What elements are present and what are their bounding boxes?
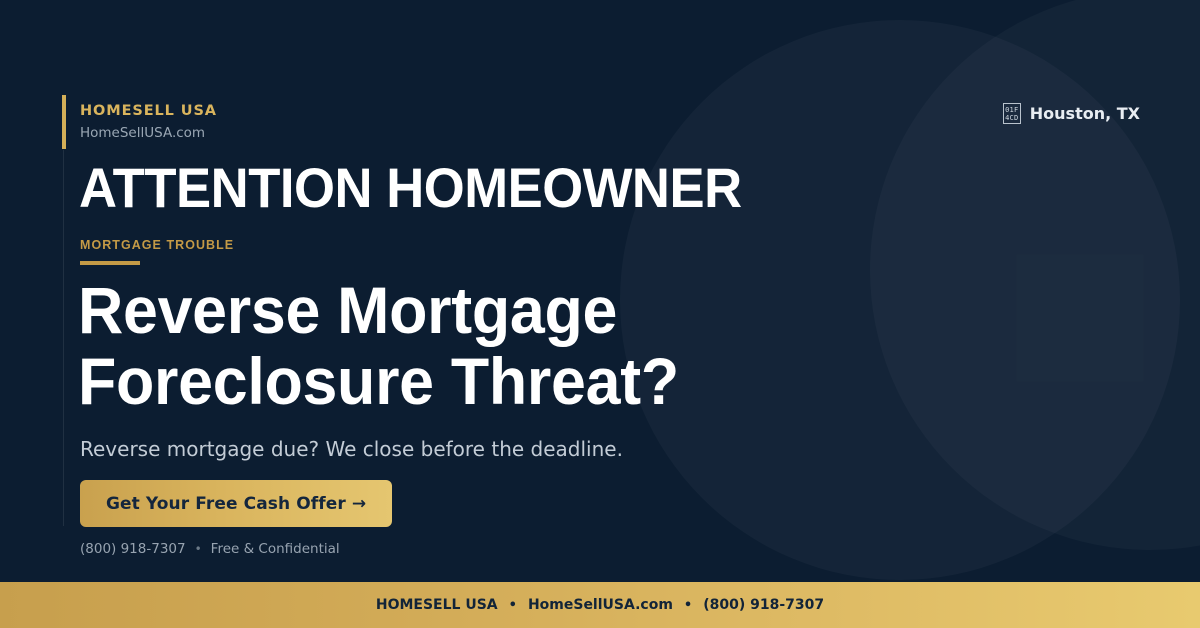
ad-banner: 01F 4CD Houston, TX HOMESELL USA HomeSel… <box>0 0 1200 628</box>
brand-website: HomeSellUSA.com <box>80 126 217 141</box>
get-free-cash-offer-button[interactable]: Get Your Free Cash Offer → <box>80 480 392 527</box>
footer-website[interactable]: HomeSellUSA.com <box>528 597 673 613</box>
subheadline: Reverse mortgage due? We close before th… <box>80 436 623 462</box>
eyebrow-label: MORTGAGE TROUBLE <box>80 238 234 252</box>
footer-separator-one: • <box>509 598 517 613</box>
attention-headline: ATTENTION HOMEOWNER <box>79 160 742 216</box>
decorative-circle-right <box>870 0 1200 550</box>
footer-bar: HOMESELL USA • HomeSellUSA.com • (800) 9… <box>0 582 1200 628</box>
brand-name: HOMESELL USA <box>80 104 217 120</box>
footer-separator-two: • <box>684 598 692 613</box>
location-badge: 01F 4CD Houston, TX <box>1003 103 1140 124</box>
vertical-rail-line <box>63 150 64 526</box>
pin-icon-hex-bottom: 4CD <box>1005 114 1018 122</box>
contact-phone[interactable]: (800) 918-7307 <box>80 541 186 557</box>
brand-block: HOMESELL USA HomeSellUSA.com <box>80 104 217 141</box>
footer-brand: HOMESELL USA <box>376 597 498 613</box>
hero-content: HOMESELL USA HomeSellUSA.com ATTENTION H… <box>80 0 800 582</box>
location-pin-icon: 01F 4CD <box>1003 103 1021 124</box>
main-headline: Reverse Mortgage Foreclosure Threat? <box>78 275 679 418</box>
pin-icon-hex-top: 01F <box>1005 106 1018 114</box>
gold-accent-bar <box>62 95 66 149</box>
contact-assurance: Free & Confidential <box>211 541 340 557</box>
contact-separator: • <box>195 542 202 556</box>
cta-button-label: Get Your Free Cash Offer → <box>106 494 366 514</box>
location-label: Houston, TX <box>1030 104 1140 123</box>
eyebrow-underline-rule <box>80 261 140 265</box>
footer-phone[interactable]: (800) 918-7307 <box>703 597 824 613</box>
contact-line: (800) 918-7307 • Free & Confidential <box>80 541 340 557</box>
footer-content: HOMESELL USA • HomeSellUSA.com • (800) 9… <box>376 597 824 613</box>
